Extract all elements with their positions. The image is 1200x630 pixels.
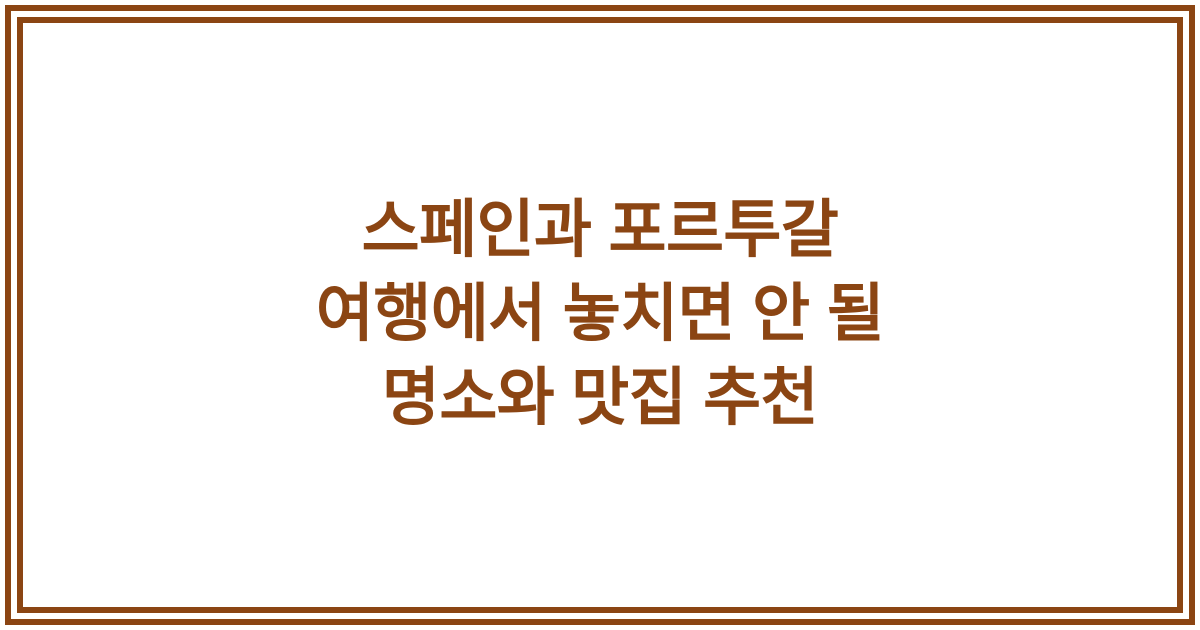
page-title: 스페인과 포르투갈 여행에서 놓치면 안 될 명소와 맛집 추천	[63, 189, 1137, 440]
thumbnail-card: 스페인과 포르투갈 여행에서 놓치면 안 될 명소와 맛집 추천	[0, 0, 1200, 630]
title-block: 스페인과 포르투갈 여행에서 놓치면 안 될 명소와 맛집 추천	[63, 189, 1137, 440]
content-area: 스페인과 포르투갈 여행에서 놓치면 안 될 명소와 맛집 추천	[23, 23, 1177, 607]
